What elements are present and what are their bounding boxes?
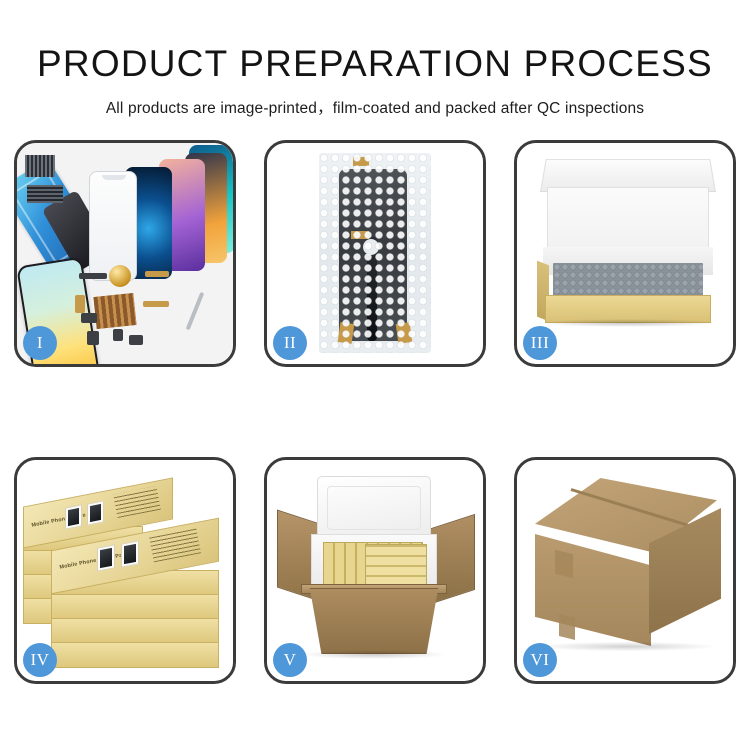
bubble-texture [319, 153, 431, 353]
carton-tape-lower [559, 614, 575, 640]
stacked-box-f4 [51, 642, 219, 668]
yellow-boxes-flat [365, 544, 427, 586]
flex-cable-2 [143, 301, 169, 307]
step-numeral-5: V [284, 650, 297, 670]
chip-array [93, 293, 136, 329]
step-badge-3: III [523, 326, 557, 360]
panel-sealed-carton: VI [514, 457, 736, 684]
stacked-box-f3 [51, 618, 219, 644]
box-stack: Mobile Phone Spare Parts Mobile Phone Sp… [21, 478, 229, 668]
panel-carton-with-foam-image: V [267, 460, 483, 681]
page-title: PRODUCT PREPARATION PROCESS [0, 45, 750, 82]
page-subtitle: All products are image-printed，film-coat… [0, 96, 750, 118]
panel-bubble-wrapped-screen: II [264, 140, 486, 367]
bubble-wrap-bag [319, 153, 431, 353]
box-window-back-2 [87, 500, 104, 525]
foam-box-lid [317, 476, 431, 540]
panel-open-yellow-box-image: III [517, 143, 733, 364]
process-steps-grid: I II [14, 140, 736, 685]
carton-tape-upper [555, 550, 573, 578]
part-bracket [129, 335, 143, 345]
panel-carton-with-foam: V [264, 457, 486, 684]
part-connector [81, 313, 97, 323]
box-window-front-2 [121, 540, 139, 567]
carton-shadow [541, 642, 713, 651]
carton-left-face [535, 534, 651, 646]
panel-stacked-boxes: Mobile Phone Spare Parts Mobile Phone Sp… [14, 457, 236, 684]
step-numeral-1: I [37, 333, 43, 353]
step-numeral-2: II [284, 333, 296, 353]
step-numeral-6: VI [531, 650, 550, 670]
box-window-back-1 [65, 504, 82, 529]
step-numeral-4: IV [31, 650, 50, 670]
panel-bubble-wrapped-screen-image: II [267, 143, 483, 364]
panel-phone-parts: I [14, 140, 236, 367]
carton-shadow [303, 650, 445, 659]
product-preparation-process-page: PRODUCT PREPARATION PROCESS All products… [0, 0, 750, 750]
panel-sealed-carton-image: VI [517, 460, 733, 681]
flex-cable-3 [75, 295, 85, 313]
part-speaker [79, 273, 107, 279]
box-shadow [539, 319, 715, 327]
step-badge-1: I [23, 326, 57, 360]
step-badge-2: II [273, 326, 307, 360]
box-lid-face [547, 187, 709, 253]
part-button [113, 329, 123, 341]
step-badge-6: VI [523, 643, 557, 677]
step-badge-4: IV [23, 643, 57, 677]
gold-component [109, 265, 131, 287]
carton-front-panel [301, 588, 447, 654]
step-numeral-3: III [531, 333, 549, 353]
part-camera [87, 331, 99, 345]
step-badge-5: V [273, 643, 307, 677]
tweezer-tool [186, 292, 205, 331]
panel-open-yellow-box: III [514, 140, 736, 367]
bubble-wrapped-contents [553, 263, 703, 299]
flex-cable-1 [145, 271, 169, 277]
header: PRODUCT PREPARATION PROCESS All products… [0, 0, 750, 118]
box-window-front-1 [97, 544, 115, 571]
stacked-box-f2 [51, 594, 219, 620]
panel-phone-parts-image: I [17, 143, 233, 364]
tempered-glass-sheet [89, 171, 137, 281]
panel-stacked-boxes-image: Mobile Phone Spare Parts Mobile Phone Sp… [17, 460, 233, 681]
